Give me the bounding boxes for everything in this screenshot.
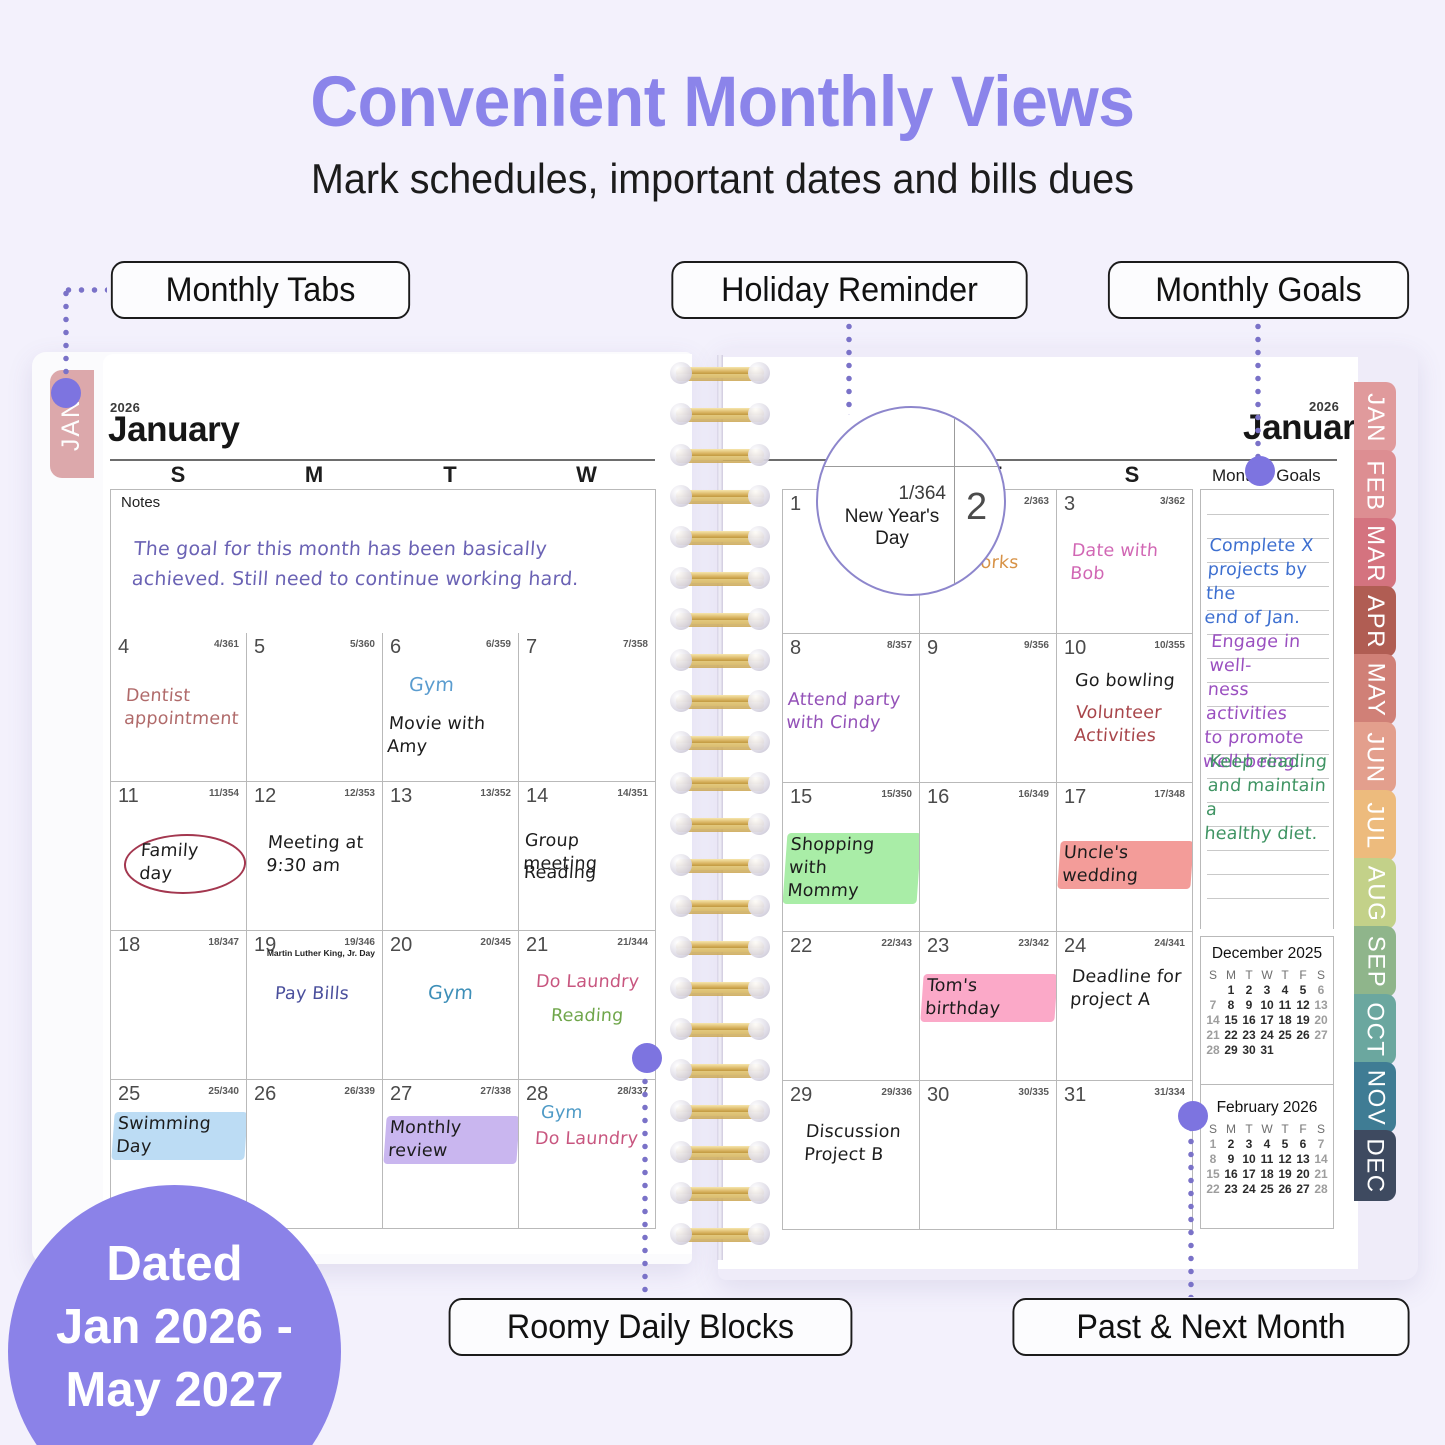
day-number: 13 bbox=[390, 785, 412, 808]
mini-day: 17 bbox=[1258, 1012, 1276, 1027]
leader-line-roomy-v bbox=[642, 1062, 648, 1297]
mini-day: 25 bbox=[1276, 1027, 1294, 1042]
mini-day: 9 bbox=[1222, 1151, 1240, 1166]
holiday-label: Martin Luther King, Jr. Day bbox=[267, 948, 375, 959]
entry-text: Pay Bills bbox=[274, 983, 350, 1006]
entry-text: Reading bbox=[523, 862, 597, 885]
mini-day: 20 bbox=[1312, 1012, 1330, 1027]
anchor-dot-pastnext bbox=[1178, 1101, 1208, 1131]
mini-day: 3 bbox=[1258, 982, 1276, 997]
calendar-week-row: 22 22/343 23 23/342 Tom's birthday 24 24… bbox=[783, 932, 1193, 1081]
leader-line-holiday-v bbox=[846, 320, 852, 415]
month-tab-label: AUG bbox=[1361, 865, 1389, 922]
month-tab-apr[interactable]: APR bbox=[1354, 586, 1396, 657]
month-tab-may[interactable]: MAY bbox=[1354, 654, 1396, 725]
mini-day: 19 bbox=[1276, 1166, 1294, 1181]
mini-dow: W bbox=[1258, 1121, 1276, 1136]
anchor-dot-monthly-tabs bbox=[51, 378, 81, 408]
mini-calendar-table: S M T W T F S 1 2 3 4 5 6 7 8 9 10 bbox=[1204, 967, 1330, 1057]
mini-dow: S bbox=[1312, 967, 1330, 982]
entry-text: Gym bbox=[540, 1102, 583, 1125]
mini-day: 27 bbox=[1312, 1027, 1330, 1042]
mini-calendar-header-row: S M T W T F S bbox=[1204, 967, 1330, 982]
month-tab-jun[interactable]: JUN bbox=[1354, 722, 1396, 793]
mini-day: 14 bbox=[1312, 1151, 1330, 1166]
day-fraction: 29/336 bbox=[881, 1087, 912, 1098]
badge-line-3: May 2027 bbox=[66, 1359, 284, 1422]
callout-holiday-reminder: Holiday Reminder bbox=[671, 261, 1027, 319]
mini-calendar-week: 22 23 24 25 26 27 28 bbox=[1204, 1181, 1330, 1196]
day-number: 29 bbox=[790, 1084, 812, 1107]
mini-day: 10 bbox=[1240, 1151, 1258, 1166]
spiral-coil bbox=[668, 935, 772, 959]
goal-text: Keep reading and maintain a healthy diet… bbox=[1204, 750, 1337, 846]
entry-text: Reading bbox=[550, 1005, 624, 1028]
mini-day: 22 bbox=[1222, 1027, 1240, 1042]
mini-dow: S bbox=[1204, 1121, 1222, 1136]
mini-day: 5 bbox=[1294, 982, 1312, 997]
mini-dow: M bbox=[1222, 967, 1240, 982]
day-fraction: 6/359 bbox=[486, 639, 511, 650]
day-cell-29[interactable]: 29 29/336 Discussion Project B bbox=[783, 1081, 920, 1230]
day-cell-3[interactable]: 3 3/362 Date with Bob bbox=[1057, 490, 1193, 634]
spiral-coil bbox=[668, 525, 772, 549]
day-number: 21 bbox=[526, 934, 548, 957]
left-page-rule bbox=[110, 459, 655, 461]
day-cell-31[interactable]: 31 31/334 bbox=[1057, 1081, 1193, 1230]
spiral-coil bbox=[668, 1181, 772, 1205]
day-cell-4[interactable]: 4 4/361 Dentist appointment bbox=[111, 633, 247, 782]
month-tab-jul[interactable]: JUL bbox=[1354, 790, 1396, 861]
spiral-coil bbox=[668, 853, 772, 877]
day-cell-18[interactable]: 18 18/347 bbox=[111, 931, 247, 1080]
day-number: 12 bbox=[254, 785, 276, 808]
month-tab-strip: JAN FEB MAR APR MAY JUN JUL AUG SEP OCT … bbox=[1354, 382, 1396, 1198]
day-number: 17 bbox=[1064, 786, 1086, 809]
day-fraction: 31/334 bbox=[1154, 1087, 1185, 1098]
day-fraction: 19/346 Martin Luther King, Jr. Day bbox=[267, 937, 375, 959]
day-number: 20 bbox=[390, 934, 412, 957]
day-fraction: 5/360 bbox=[350, 639, 375, 650]
entry-text: Date with Bob bbox=[1069, 540, 1159, 586]
day-number: 23 bbox=[927, 935, 949, 958]
spiral-binding bbox=[668, 355, 772, 1260]
day-fraction: 24/341 bbox=[1154, 938, 1185, 949]
mini-day: 18 bbox=[1276, 1012, 1294, 1027]
goal-rule bbox=[1207, 514, 1329, 515]
weekday-label: T bbox=[382, 462, 518, 488]
left-page-weekday-header: S M T W bbox=[110, 462, 655, 488]
page-subtitle: Mark schedules, important dates and bill… bbox=[43, 152, 1401, 206]
mini-day: 7 bbox=[1204, 997, 1222, 1012]
badge-line-1: Dated bbox=[106, 1233, 242, 1296]
entry-text-highlighted: Shopping with Mommy bbox=[783, 833, 920, 904]
day-fraction: 27/338 bbox=[480, 1086, 511, 1097]
calendar-week-row: 15 15/350 Shopping with Mommy 16 16/349 … bbox=[783, 783, 1193, 932]
notes-cell[interactable]: Notes The goal for this month has been b… bbox=[111, 490, 656, 634]
day-cell-6[interactable]: 6 6/359 Gym Movie with Amy bbox=[383, 633, 519, 782]
day-fraction-value: 19/346 bbox=[344, 937, 375, 948]
mini-calendar-december: December 2025 S M T W T F S 1 2 3 4 5 6 bbox=[1200, 936, 1334, 1084]
mini-day: 30 bbox=[1240, 1042, 1258, 1057]
day-cell-11[interactable]: 11 11/354 Family day bbox=[111, 782, 247, 931]
mini-calendar-title: December 2025 bbox=[1201, 945, 1333, 963]
callout-monthly-goals: Monthly Goals bbox=[1108, 261, 1409, 319]
mini-calendar-week: 28 29 30 31 bbox=[1204, 1042, 1330, 1057]
day-number: 26 bbox=[254, 1083, 276, 1106]
leader-line-goals-v bbox=[1255, 320, 1261, 460]
mini-day: 11 bbox=[1276, 997, 1294, 1012]
mini-day: 4 bbox=[1276, 982, 1294, 997]
day-fraction: 20/345 bbox=[480, 937, 511, 948]
day-cell-13[interactable]: 13 13/352 bbox=[383, 782, 519, 931]
mini-day: 15 bbox=[1222, 1012, 1240, 1027]
mini-day: 6 bbox=[1312, 982, 1330, 997]
day-number: 6 bbox=[390, 636, 401, 659]
goal-rule bbox=[1207, 898, 1329, 899]
mini-dow: S bbox=[1312, 1121, 1330, 1136]
weekday-label: W bbox=[518, 462, 655, 488]
month-tab-feb[interactable]: FEB bbox=[1354, 450, 1396, 521]
calendar-week-row: 11 11/354 Family day 12 12/353 Meeting a… bbox=[111, 782, 656, 931]
magnifier-vertical-rule bbox=[954, 408, 955, 596]
mini-day: 3 bbox=[1240, 1136, 1258, 1151]
day-cell-10[interactable]: 10 10/355 Go bowling Volunteer Activitie… bbox=[1057, 634, 1193, 783]
day-fraction: 7/358 bbox=[623, 639, 648, 650]
day-number: 27 bbox=[390, 1083, 412, 1106]
mini-day: 21 bbox=[1312, 1166, 1330, 1181]
mini-day: 6 bbox=[1294, 1136, 1312, 1151]
mini-day: 22 bbox=[1204, 1181, 1222, 1196]
spiral-coil bbox=[668, 771, 772, 795]
callout-roomy-daily-blocks: Roomy Daily Blocks bbox=[449, 1298, 853, 1356]
day-cell-27[interactable]: 27 27/338 Monthly review bbox=[383, 1080, 519, 1229]
day-cell-17[interactable]: 17 17/348 Uncle's wedding bbox=[1057, 783, 1193, 932]
entry-text: Meeting at 9:30 am bbox=[265, 832, 364, 878]
month-tab-label: MAR bbox=[1361, 525, 1389, 583]
mini-day: 26 bbox=[1276, 1181, 1294, 1196]
month-tab-dec[interactable]: DEC bbox=[1354, 1130, 1396, 1201]
mini-day: 28 bbox=[1312, 1181, 1330, 1196]
day-number: 16 bbox=[927, 786, 949, 809]
day-number: 9 bbox=[927, 637, 938, 660]
day-cell-26[interactable]: 26 26/339 bbox=[247, 1080, 383, 1229]
spiral-coil bbox=[668, 443, 772, 467]
day-fraction: 8/357 bbox=[887, 640, 912, 651]
day-cell-5[interactable]: 5 5/360 bbox=[247, 633, 383, 782]
day-cell-12[interactable]: 12 12/353 Meeting at 9:30 am bbox=[247, 782, 383, 931]
mini-dow: T bbox=[1240, 967, 1258, 982]
callout-monthly-tabs: Monthly Tabs bbox=[111, 261, 410, 319]
mini-day: 2 bbox=[1240, 982, 1258, 997]
entry-text: Go bowling bbox=[1074, 670, 1175, 693]
goal-text: Complete X projects by the end of Jan. bbox=[1204, 534, 1337, 630]
day-cell-23[interactable]: 23 23/342 Tom's birthday bbox=[920, 932, 1057, 1081]
mini-day: 15 bbox=[1204, 1166, 1222, 1181]
day-cell-24[interactable]: 24 24/341 Deadline for project A bbox=[1057, 932, 1193, 1081]
magnifier-horizontal-rule bbox=[818, 466, 1006, 467]
calendar-week-row: 4 4/361 Dentist appointment 5 5/360 6 6/… bbox=[111, 633, 656, 782]
month-tab-label: OCT bbox=[1361, 1002, 1389, 1057]
month-tab-label: DEC bbox=[1361, 1138, 1389, 1193]
calendar-week-row: 18 18/347 19 19/346 Martin Luther King, … bbox=[111, 931, 656, 1080]
day-fraction: 25/340 bbox=[208, 1086, 239, 1097]
mini-day bbox=[1312, 1042, 1330, 1057]
day-number: 14 bbox=[526, 785, 548, 808]
magnified-day-number: 2 bbox=[966, 486, 987, 529]
spiral-coil bbox=[668, 812, 772, 836]
mini-day: 24 bbox=[1258, 1027, 1276, 1042]
mini-day: 1 bbox=[1222, 982, 1240, 997]
left-page-calendar-grid: 4 4/361 Dentist appointment 5 5/360 6 6/… bbox=[110, 633, 656, 1229]
mini-calendar-week: 14 15 16 17 18 19 20 bbox=[1204, 1012, 1330, 1027]
spiral-coil bbox=[668, 484, 772, 508]
spiral-coil bbox=[668, 1222, 772, 1246]
day-cell-19[interactable]: 19 19/346 Martin Luther King, Jr. Day Pa… bbox=[247, 931, 383, 1080]
day-number: 15 bbox=[790, 786, 812, 809]
mini-day: 20 bbox=[1294, 1166, 1312, 1181]
day-number: 10 bbox=[1064, 637, 1086, 660]
mini-day: 31 bbox=[1258, 1042, 1276, 1057]
mini-dow: T bbox=[1276, 967, 1294, 982]
mini-day: 26 bbox=[1294, 1027, 1312, 1042]
day-number: 4 bbox=[118, 636, 129, 659]
day-fraction: 15/350 bbox=[881, 789, 912, 800]
calendar-week-row: 8 8/357 Attend party with Cindy 9 9/356 … bbox=[783, 634, 1193, 783]
mini-day: 23 bbox=[1222, 1181, 1240, 1196]
day-fraction: 30/335 bbox=[1018, 1087, 1049, 1098]
day-fraction: 4/361 bbox=[214, 639, 239, 650]
day-fraction: 13/352 bbox=[480, 788, 511, 799]
monthly-goals-column[interactable]: Complete X projects by the end of Jan. E… bbox=[1200, 489, 1334, 929]
day-cell-16[interactable]: 16 16/349 bbox=[920, 783, 1057, 932]
goal-rule bbox=[1207, 874, 1329, 875]
mini-dow: M bbox=[1222, 1121, 1240, 1136]
day-fraction: 18/347 bbox=[208, 937, 239, 948]
spiral-coil bbox=[668, 648, 772, 672]
entry-text: Attend party with Cindy bbox=[785, 689, 901, 735]
month-tab-label: JUN bbox=[1361, 732, 1389, 783]
day-cell-30[interactable]: 30 30/335 bbox=[920, 1081, 1057, 1230]
mini-day: 25 bbox=[1258, 1181, 1276, 1196]
month-tab-label: JUL bbox=[1361, 802, 1389, 849]
mini-calendar-week: 21 22 23 24 25 26 27 bbox=[1204, 1027, 1330, 1042]
month-tab-label: APR bbox=[1361, 595, 1389, 649]
entry-text: Gym bbox=[408, 673, 455, 698]
day-number: 31 bbox=[1064, 1084, 1086, 1107]
entry-text-highlighted: Tom's birthday bbox=[920, 974, 1057, 1022]
spiral-coil bbox=[668, 894, 772, 918]
day-fraction: 10/355 bbox=[1154, 640, 1185, 651]
entry-text: Deadline for project A bbox=[1069, 966, 1182, 1012]
mini-calendar-week: 1 2 3 4 5 6 bbox=[1204, 982, 1330, 997]
mini-calendar-header-row: S M T W T F S bbox=[1204, 1121, 1330, 1136]
mini-day: 19 bbox=[1294, 1012, 1312, 1027]
magnified-holiday-label: New Year's Day bbox=[830, 506, 954, 550]
month-tab-oct[interactable]: OCT bbox=[1354, 994, 1396, 1065]
weekday-label: M bbox=[246, 462, 382, 488]
mini-calendar-february: February 2026 S M T W T F S 1 2 3 4 5 6 … bbox=[1200, 1084, 1334, 1229]
mini-dow: T bbox=[1240, 1121, 1258, 1136]
mini-day: 4 bbox=[1258, 1136, 1276, 1151]
callout-past-next-month: Past & Next Month bbox=[1012, 1298, 1409, 1356]
mini-day: 16 bbox=[1222, 1166, 1240, 1181]
anchor-dot-roomy bbox=[632, 1043, 662, 1073]
month-tab-mar[interactable]: MAR bbox=[1354, 518, 1396, 589]
day-number: 8 bbox=[790, 637, 801, 660]
mini-day: 5 bbox=[1276, 1136, 1294, 1151]
day-number: 3 bbox=[1064, 493, 1075, 516]
mini-day: 9 bbox=[1240, 997, 1258, 1012]
mini-day: 24 bbox=[1240, 1181, 1258, 1196]
marketing-image: Convenient Monthly Views Mark schedules,… bbox=[0, 0, 1445, 1445]
left-page-month: January bbox=[108, 410, 239, 450]
weekday-label: S bbox=[1064, 462, 1200, 488]
day-cell-15[interactable]: 15 15/350 Shopping with Mommy bbox=[783, 783, 920, 932]
mini-calendar-week: 15 16 17 18 19 20 21 bbox=[1204, 1166, 1330, 1181]
mini-day: 13 bbox=[1294, 1151, 1312, 1166]
day-number: 30 bbox=[927, 1084, 949, 1107]
mini-day: 1 bbox=[1204, 1136, 1222, 1151]
mini-day: 10 bbox=[1258, 997, 1276, 1012]
entry-text-highlighted: Swimming Day bbox=[111, 1112, 247, 1160]
day-cell-28[interactable]: 28 28/337 Gym Do Laundry bbox=[519, 1080, 656, 1229]
mini-calendar-week: 1 2 3 4 5 6 7 bbox=[1204, 1136, 1330, 1151]
day-number: 1 bbox=[790, 493, 801, 516]
day-fraction: 17/348 bbox=[1154, 789, 1185, 800]
day-fraction: 11/354 bbox=[209, 788, 239, 799]
mini-day: 16 bbox=[1240, 1012, 1258, 1027]
day-cell-9[interactable]: 9 9/356 bbox=[920, 634, 1057, 783]
entry-text-circled: Family day bbox=[122, 834, 247, 894]
day-fraction: 22/343 bbox=[881, 938, 912, 949]
spiral-coil bbox=[668, 1099, 772, 1123]
mini-day: 8 bbox=[1222, 997, 1240, 1012]
day-fraction: 12/353 bbox=[344, 788, 375, 799]
month-tab-aug[interactable]: AUG bbox=[1354, 858, 1396, 929]
mini-day: 27 bbox=[1294, 1181, 1312, 1196]
day-number: 7 bbox=[526, 636, 537, 659]
entry-text-highlighted: Uncle's wedding bbox=[1057, 841, 1193, 889]
notes-row: Notes The goal for this month has been b… bbox=[111, 490, 656, 634]
mini-day: 14 bbox=[1204, 1012, 1222, 1027]
right-page-calendar-grid: 1 1/364 New Year's Day 2 2/363 Fireworks… bbox=[782, 489, 1193, 1230]
spiral-coil bbox=[668, 1017, 772, 1041]
spiral-coil bbox=[668, 689, 772, 713]
day-number: 18 bbox=[118, 934, 140, 957]
page-title: Convenient Monthly Views bbox=[51, 62, 1395, 144]
month-tab-sep[interactable]: SEP bbox=[1354, 926, 1396, 997]
day-number: 25 bbox=[118, 1083, 140, 1106]
day-number: 22 bbox=[790, 935, 812, 958]
day-number: 5 bbox=[254, 636, 265, 659]
weekday-label: S bbox=[110, 462, 246, 488]
day-number: 24 bbox=[1064, 935, 1086, 958]
spiral-coil bbox=[668, 1058, 772, 1082]
mini-day bbox=[1276, 1042, 1294, 1057]
spiral-coil bbox=[668, 1140, 772, 1164]
month-tab-label: MAY bbox=[1361, 662, 1389, 717]
day-fraction: 2/363 bbox=[1024, 496, 1049, 507]
spiral-coil bbox=[668, 607, 772, 631]
spiral-coil bbox=[668, 730, 772, 754]
day-cell-7[interactable]: 7 7/358 bbox=[519, 633, 656, 782]
anchor-dot-goals bbox=[1245, 456, 1275, 486]
right-page-rule bbox=[723, 459, 1337, 461]
entry-text: Do Laundry bbox=[534, 1128, 639, 1151]
entry-text: Do Laundry bbox=[535, 971, 640, 994]
mini-day: 12 bbox=[1276, 1151, 1294, 1166]
mini-day: 23 bbox=[1240, 1027, 1258, 1042]
entry-text: Movie with Amy bbox=[386, 713, 519, 759]
month-tab-label: FEB bbox=[1361, 460, 1389, 511]
day-number: 11 bbox=[118, 785, 139, 808]
day-cell-20[interactable]: 20 20/345 Gym bbox=[383, 931, 519, 1080]
spiral-coil bbox=[668, 402, 772, 426]
calendar-week-row: 29 29/336 Discussion Project B 30 30/335… bbox=[783, 1081, 1193, 1230]
day-cell-22[interactable]: 22 22/343 bbox=[783, 932, 920, 1081]
day-cell-8[interactable]: 8 8/357 Attend party with Cindy bbox=[783, 634, 920, 783]
notes-handwriting: The goal for this month has been basical… bbox=[131, 534, 582, 594]
mini-calendar-week: 7 8 9 10 11 12 13 bbox=[1204, 997, 1330, 1012]
entry-text: Dentist appointment bbox=[123, 685, 241, 731]
mini-calendar-table: S M T W T F S 1 2 3 4 5 6 7 8 9 10 1 bbox=[1204, 1121, 1330, 1196]
goal-rule bbox=[1207, 850, 1329, 851]
day-fraction: 16/349 bbox=[1018, 789, 1049, 800]
entry-text: Volunteer Activities bbox=[1073, 702, 1162, 748]
magnified-day-fraction: 1/364 bbox=[898, 483, 946, 505]
mini-dow: F bbox=[1294, 1121, 1312, 1136]
mini-day: 18 bbox=[1258, 1166, 1276, 1181]
mini-day bbox=[1204, 982, 1222, 997]
spiral-coil bbox=[668, 566, 772, 590]
entry-text: Gym bbox=[427, 981, 474, 1006]
mini-calendar-title: February 2026 bbox=[1201, 1099, 1333, 1117]
day-fraction: 23/342 bbox=[1018, 938, 1049, 949]
badge-line-2: Jan 2026 - bbox=[56, 1296, 293, 1359]
mini-dow: W bbox=[1258, 967, 1276, 982]
mini-day: 13 bbox=[1312, 997, 1330, 1012]
mini-day: 7 bbox=[1312, 1136, 1330, 1151]
month-tab-label: JAN bbox=[1361, 393, 1389, 443]
mini-day bbox=[1294, 1042, 1312, 1057]
month-tab-jan[interactable]: JAN bbox=[1354, 382, 1396, 453]
day-fraction: 14/351 bbox=[617, 788, 648, 799]
mini-calendar-week: 8 9 10 11 12 13 14 bbox=[1204, 1151, 1330, 1166]
holiday-magnifier: 1/364 New Year's Day 2 bbox=[816, 406, 1006, 596]
spiral-coil bbox=[668, 361, 772, 385]
mini-dow: F bbox=[1294, 967, 1312, 982]
notes-label: Notes bbox=[121, 494, 160, 511]
mini-day: 11 bbox=[1258, 1151, 1276, 1166]
mini-dow: S bbox=[1204, 967, 1222, 982]
day-fraction: 3/362 bbox=[1160, 496, 1185, 507]
mini-day: 21 bbox=[1204, 1027, 1222, 1042]
spiral-coil bbox=[668, 976, 772, 1000]
month-tab-label: NOV bbox=[1361, 1069, 1389, 1126]
month-tab-label: SEP bbox=[1361, 935, 1389, 988]
leader-line-pastnext-v bbox=[1188, 1122, 1194, 1297]
left-page-notes-band: Notes The goal for this month has been b… bbox=[110, 489, 656, 634]
day-cell-14[interactable]: 14 14/351 Group meeting Reading bbox=[519, 782, 656, 931]
mini-dow: T bbox=[1276, 1121, 1294, 1136]
mini-day: 12 bbox=[1294, 997, 1312, 1012]
month-tab-nov[interactable]: NOV bbox=[1354, 1062, 1396, 1133]
entry-text: Discussion Project B bbox=[803, 1121, 901, 1167]
mini-day: 8 bbox=[1204, 1151, 1222, 1166]
day-fraction: 26/339 bbox=[344, 1086, 375, 1097]
day-fraction: 9/356 bbox=[1024, 640, 1049, 651]
